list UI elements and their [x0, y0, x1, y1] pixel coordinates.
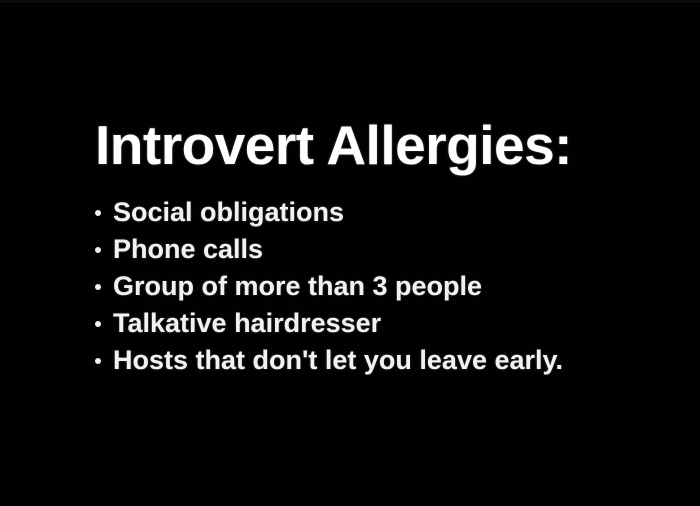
list-item-label: Social obligations — [113, 197, 344, 227]
bullet-dot-icon — [95, 247, 101, 253]
list-item-label: Group of more than 3 people — [113, 271, 482, 301]
text-block: Introvert Allergies: Social obligations … — [95, 118, 655, 379]
list-item: Social obligations — [95, 194, 655, 231]
list-item-label: Talkative hairdresser — [113, 308, 381, 338]
list-item: Group of more than 3 people — [95, 268, 655, 305]
page-title: Introvert Allergies: — [95, 118, 655, 173]
list-item-label: Phone calls — [113, 234, 263, 264]
list-item-label: Hosts that don't let you leave early. — [113, 345, 563, 375]
bullet-dot-icon — [95, 358, 101, 364]
list-item: Talkative hairdresser — [95, 305, 655, 342]
bullet-dot-icon — [95, 210, 101, 216]
bullet-dot-icon — [95, 321, 101, 327]
list-item: Phone calls — [95, 231, 655, 268]
bullet-dot-icon — [95, 284, 101, 290]
meme-image-card: Introvert Allergies: Social obligations … — [0, 0, 700, 506]
list-item: Hosts that don't let you leave early. — [95, 342, 655, 379]
allergies-list: Social obligations Phone calls Group of … — [95, 194, 655, 379]
